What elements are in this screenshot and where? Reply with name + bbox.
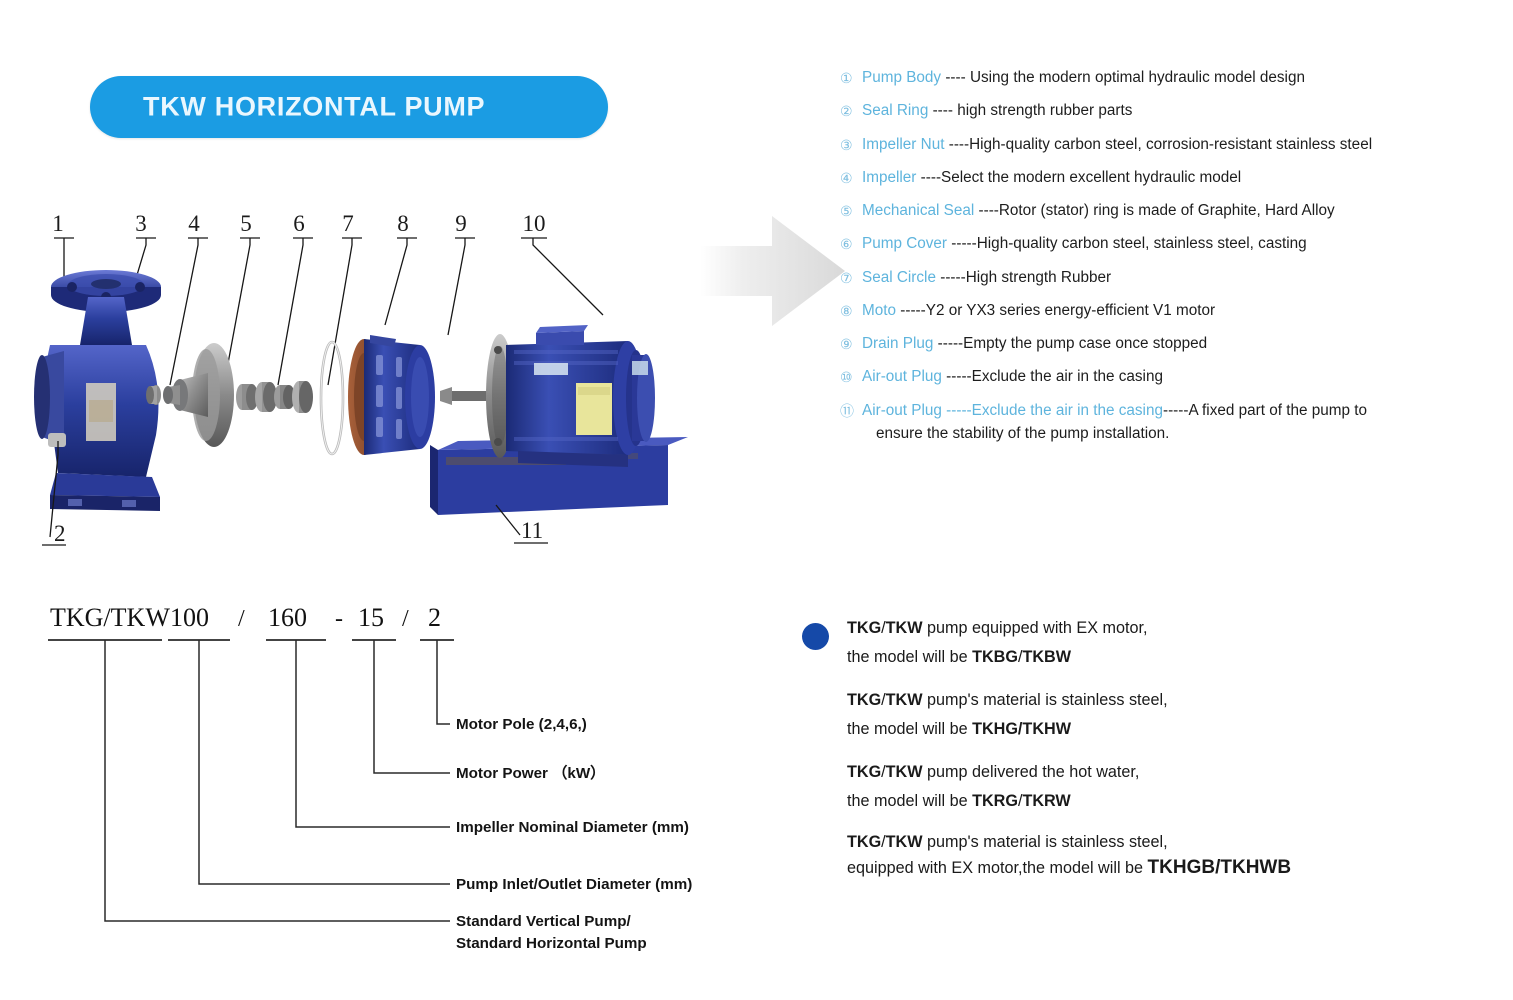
callout-3: 3: [135, 211, 147, 236]
legend-body-7: Seal Circle -----High strength Rubber: [862, 268, 1500, 288]
code-separator-3: /: [402, 606, 409, 632]
legend-part-name-1: Pump Body: [862, 69, 941, 86]
legend-part-name-5: Mechanical Seal: [862, 202, 974, 219]
note-run-strong: TKRG: [972, 792, 1018, 810]
note-run-strong: TKW: [886, 763, 923, 781]
legend-part-name-11: Air-out Plug: [862, 402, 942, 419]
code-leader-lines: [105, 640, 450, 921]
model-designation-diagram: TKG/TKW 100 / 160 - 15 / 2: [30, 596, 730, 976]
callout-9: 9: [455, 211, 467, 236]
page-title-banner: TKW HORIZONTAL PUMP: [90, 76, 608, 138]
legend-part-name-8: Moto: [862, 302, 896, 319]
note-paragraph: TKG/TKW pump delivered the hot water,the…: [847, 758, 1422, 816]
legend-item-5: ⑤ Mechanical Seal ----Rotor (stator) rin…: [840, 201, 1500, 221]
legend-item-2: ② Seal Ring ---- high strength rubber pa…: [840, 101, 1500, 121]
note-run: pump delivered the hot water,: [923, 763, 1140, 781]
note-paragraph: TKG/TKW pump's material is stainless ste…: [847, 686, 1422, 744]
legend-body-9: Drain Plug -----Empty the pump case once…: [862, 334, 1500, 354]
code-label-standard-vertical: Standard Vertical Pump/: [456, 913, 631, 930]
note-run-strong: TKBG: [972, 648, 1018, 666]
note-run-strong: TKG: [847, 763, 881, 781]
note-run: pump equipped with EX motor,: [923, 619, 1148, 637]
legend-part-desc-3: ----High-quality carbon steel, corrosion…: [944, 136, 1372, 153]
legend-part-desc-10: -----Exclude the air in the casing: [942, 368, 1163, 385]
callout-2: 2: [54, 521, 66, 546]
note-line: the model will be TKHG/TKHW: [847, 715, 1422, 744]
code-segment-prefix: TKG/TKW: [50, 603, 170, 632]
legend-part-name-4: Impeller: [862, 169, 916, 186]
legend-part-desc-5: ----Rotor (stator) ring is made of Graph…: [974, 202, 1334, 219]
note-line: TKG/TKW pump delivered the hot water,: [847, 758, 1422, 787]
legend-part-name-3: Impeller Nut: [862, 136, 944, 153]
legend-item-1: ① Pump Body ---- Using the modern optima…: [840, 68, 1500, 88]
note-run-strong: TKHGB/TKHWB: [1148, 857, 1292, 878]
code-label-inlet-diameter: Pump Inlet/Outlet Diameter (mm): [456, 876, 692, 893]
note-paragraph: TKG/TKW pump's material is stainless ste…: [847, 830, 1422, 881]
legend-number-10: ⑩: [840, 367, 862, 386]
note-line: TKG/TKW pump equipped with EX motor,: [847, 614, 1422, 643]
note-run-strong: TKG: [847, 833, 881, 851]
callout-1: 1: [52, 211, 64, 236]
legend-number-6: ⑥: [840, 234, 862, 253]
legend-item-4: ④ Impeller ----Select the modern excelle…: [840, 168, 1500, 188]
legend-part-desc-8: -----Y2 or YX3 series energy-efficient V…: [896, 302, 1215, 319]
right-arrow-icon: [700, 212, 845, 330]
note-run: the model will be: [847, 648, 972, 666]
legend-body-10: Air-out Plug -----Exclude the air in the…: [862, 367, 1500, 387]
legend-body-6: Pump Cover -----High-quality carbon stee…: [862, 234, 1500, 254]
legend-part-desc-6: -----High-quality carbon steel, stainles…: [947, 235, 1307, 252]
note-run: the model will be: [847, 720, 972, 738]
legend-part-desc-9: -----Empty the pump case once stopped: [933, 335, 1207, 352]
note-run-strong: TKG: [847, 619, 881, 637]
legend-item-6: ⑥ Pump Cover -----High-quality carbon st…: [840, 234, 1500, 254]
legend-item-11: ⑪ Air-out Plug -----Exclude the air in t…: [840, 401, 1500, 444]
legend-item-8: ⑧ Moto -----Y2 or YX3 series energy-effi…: [840, 301, 1500, 321]
legend-part-desc-7: -----High strength Rubber: [936, 269, 1111, 286]
callout-8: 8: [397, 211, 409, 236]
legend-part-name-2: Seal Ring: [862, 102, 928, 119]
legend-number-1: ①: [840, 68, 862, 87]
code-label-motor-power: Motor Power （kW）: [456, 764, 605, 782]
note-line: the model will be TKBG/TKBW: [847, 643, 1422, 672]
legend-number-7: ⑦: [840, 268, 862, 287]
legend-part-name-7: Seal Circle: [862, 269, 936, 286]
legend-part-desc-4: ----Select the modern excellent hydrauli…: [916, 169, 1241, 186]
legend-part-desc-2: ---- high strength rubber parts: [928, 102, 1132, 119]
note-run-strong: TKW: [886, 619, 923, 637]
code-label-impeller-diameter: Impeller Nominal Diameter (mm): [456, 819, 689, 836]
code-label-motor-pole: Motor Pole (2,4,6,): [456, 716, 587, 733]
code-segment-power: 15: [358, 603, 384, 632]
legend-body-1: Pump Body ---- Using the modern optimal …: [862, 68, 1500, 88]
legend-item-7: ⑦ Seal Circle -----High strength Rubber: [840, 268, 1500, 288]
code-separator-1: /: [238, 606, 245, 632]
legend-number-5: ⑤: [840, 201, 862, 220]
notes-text-container: TKG/TKW pump equipped with EX motor,the …: [847, 614, 1422, 881]
note-run-strong: TKW: [886, 691, 923, 709]
callout-7: 7: [342, 211, 354, 236]
legend-number-2: ②: [840, 101, 862, 120]
callout-11: 11: [521, 518, 543, 543]
note-run: pump's material is stainless steel,: [923, 691, 1168, 709]
legend-number-8: ⑧: [840, 301, 862, 320]
legend-number-3: ③: [840, 135, 862, 154]
note-run-strong: TKG: [847, 691, 881, 709]
legend-part-desc-11: -----A fixed part of the pump to: [1163, 402, 1367, 419]
legend-part-name-10: Air-out Plug: [862, 368, 942, 385]
code-segment-inlet: 100: [170, 603, 209, 632]
legend-item-3: ③ Impeller Nut ----High-quality carbon s…: [840, 135, 1500, 155]
parts-legend-list: ① Pump Body ---- Using the modern optima…: [840, 68, 1500, 457]
part-pump-body: [34, 270, 161, 511]
callout-4: 4: [188, 211, 200, 236]
note-line: TKG/TKW pump's material is stainless ste…: [847, 830, 1422, 855]
part-impeller-nut: [146, 385, 161, 405]
legend-part-desc-1: ---- Using the modern optimal hydraulic …: [941, 69, 1305, 86]
note-run-strong: TKHG/TKHW: [972, 720, 1071, 738]
legend-number-11: ⑪: [840, 401, 862, 420]
model-variant-notes: TKG/TKW pump equipped with EX motor,the …: [802, 614, 1422, 895]
callout-5: 5: [240, 211, 252, 236]
code-separator-2: -: [335, 606, 343, 632]
legend-number-9: ⑨: [840, 334, 862, 353]
legend-item-9: ⑨ Drain Plug -----Empty the pump case on…: [840, 334, 1500, 354]
legend-number-4: ④: [840, 168, 862, 187]
note-run-strong: TKRW: [1022, 792, 1070, 810]
legend-item-10: ⑩ Air-out Plug -----Exclude the air in t…: [840, 367, 1500, 387]
page-title: TKW HORIZONTAL PUMP: [143, 92, 485, 123]
legend-body-3: Impeller Nut ----High-quality carbon ste…: [862, 135, 1500, 155]
part-impeller: [163, 343, 234, 447]
legend-body-11: Air-out Plug -----Exclude the air in the…: [862, 401, 1500, 444]
part-pump-cover: [348, 335, 435, 455]
note-paragraph: TKG/TKW pump equipped with EX motor,the …: [847, 614, 1422, 672]
note-line: TKG/TKW pump's material is stainless ste…: [847, 686, 1422, 715]
note-run-strong: TKW: [886, 833, 923, 851]
note-line: the model will be TKRG/TKRW: [847, 787, 1422, 816]
legend-part-name-6: Pump Cover: [862, 235, 947, 252]
note-line: equipped with EX motor,the model will be…: [847, 855, 1422, 881]
note-run-strong: TKBW: [1022, 648, 1071, 666]
code-segment-pole: 2: [428, 603, 441, 632]
legend-body-2: Seal Ring ---- high strength rubber part…: [862, 101, 1500, 121]
callout-6: 6: [293, 211, 305, 236]
legend-body-8: Moto -----Y2 or YX3 series energy-effici…: [862, 301, 1500, 321]
note-run: equipped with EX motor,the model will be: [847, 859, 1148, 877]
legend-part-cont-11: ensure the stability of the pump install…: [862, 424, 1500, 444]
bullet-dot-icon: [802, 623, 829, 650]
legend-part-desc-accent-11: -----Exclude the air in the casing: [942, 402, 1163, 419]
code-segment-impeller: 160: [268, 603, 307, 632]
legend-part-name-9: Drain Plug: [862, 335, 933, 352]
legend-body-5: Mechanical Seal ----Rotor (stator) ring …: [862, 201, 1500, 221]
part-mechanical-seal: [236, 381, 313, 413]
note-run: pump's material is stainless steel,: [923, 833, 1168, 851]
code-label-standard-horizontal: Standard Horizontal Pump: [456, 935, 647, 952]
callout-numbers-top: 1 3 4 5 6 7 8 9 10: [52, 211, 545, 236]
legend-body-4: Impeller ----Select the modern excellent…: [862, 168, 1500, 188]
note-run: the model will be: [847, 792, 972, 810]
callout-10: 10: [523, 211, 546, 236]
exploded-pump-diagram: 1 3 4 5 6 7 8 9 10: [28, 205, 688, 575]
